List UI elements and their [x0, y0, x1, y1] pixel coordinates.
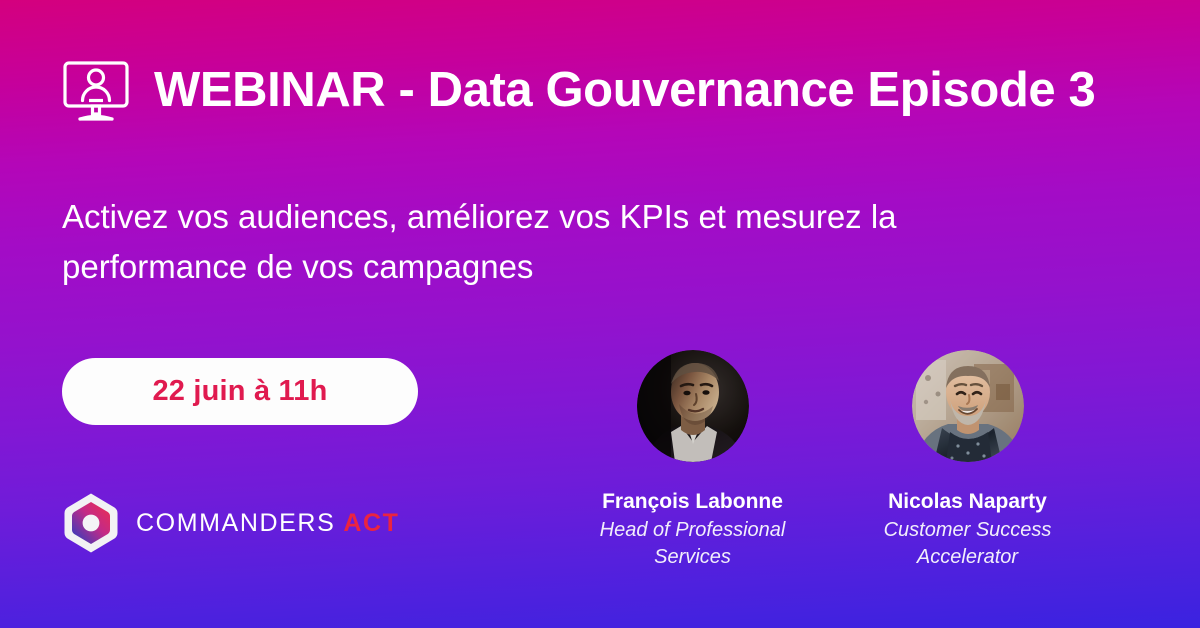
logo-wordmark: COMMANDERSACT [136, 511, 400, 536]
speaker-name: Nicolas Naparty [888, 489, 1047, 515]
date-badge[interactable]: 22 juin à 11h [62, 358, 418, 425]
speaker-card: Nicolas Naparty Customer Success Acceler… [855, 350, 1080, 571]
hexagon-logo-icon [62, 492, 120, 554]
speaker-role: Head of Professional Services [585, 517, 800, 571]
banner-header: WEBINAR - Data Gouvernance Episode 3 [60, 55, 1095, 127]
avatar [637, 350, 749, 462]
logo-word-commanders: COMMANDERS [136, 509, 335, 537]
commanders-act-logo[interactable]: COMMANDERSACT [62, 492, 400, 554]
speakers-list: François Labonne Head of Professional Se… [580, 350, 1140, 571]
logo-word-act: ACT [343, 509, 399, 537]
webinar-banner: WEBINAR - Data Gouvernance Episode 3 Act… [0, 0, 1200, 628]
subtitle-text: Activez vos audiences, améliorez vos KPI… [62, 192, 1022, 291]
speaker-card: François Labonne Head of Professional Se… [580, 350, 805, 571]
webinar-icon [60, 55, 132, 127]
speaker-name: François Labonne [602, 489, 783, 515]
avatar [912, 350, 1024, 462]
page-title: WEBINAR - Data Gouvernance Episode 3 [154, 65, 1095, 116]
speaker-role: Customer Success Accelerator [860, 517, 1075, 571]
date-badge-label: 22 juin à 11h [152, 375, 327, 408]
